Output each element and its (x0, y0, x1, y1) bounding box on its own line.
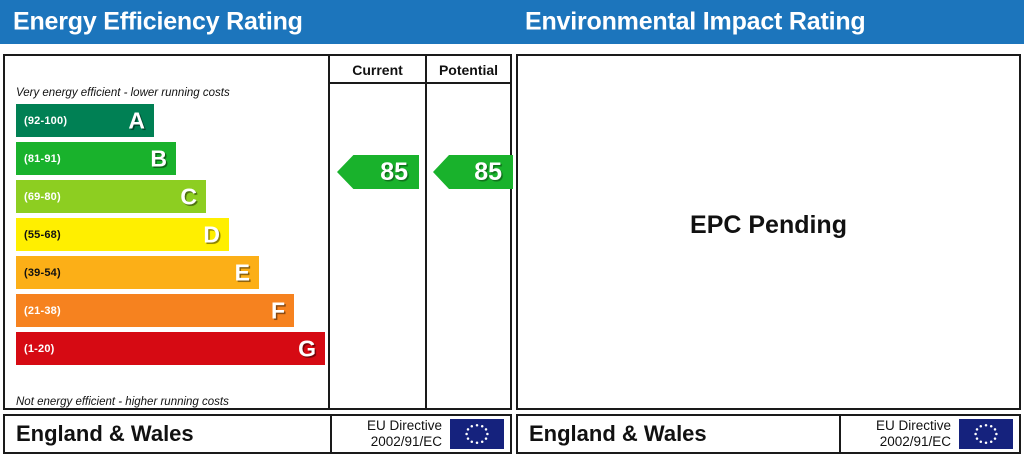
energy-efficiency-header: Energy Efficiency Rating (0, 0, 512, 44)
band-letter-a: A (128, 107, 145, 134)
epc-certificate: Energy Efficiency Rating Environmental I… (0, 0, 1024, 457)
band-row-g: (1-20) G (16, 332, 325, 365)
band-row-f: (21-38) F (16, 294, 294, 327)
epc-pending-status: EPC Pending (518, 211, 1019, 240)
eu-flag-icon-left (450, 419, 504, 449)
environmental-impact-panel: EPC Pending (516, 54, 1021, 410)
footer-divider-left (330, 416, 332, 452)
band-letter-g: G (298, 335, 316, 362)
eu-directive-right: EU Directive 2002/91/EC (876, 418, 951, 450)
footer-region-left: England & Wales (16, 421, 194, 447)
band-letter-d: D (203, 221, 220, 248)
efficiency-band-list: (92-100) A (81-91) B (69-80) C (55-68) D… (16, 104, 325, 370)
eu-flag-icon-right (959, 419, 1013, 449)
energy-footer: England & Wales EU Directive 2002/91/EC (3, 414, 512, 454)
band-letter-f: F (271, 297, 285, 324)
band-row-b: (81-91) B (16, 142, 176, 175)
energy-efficiency-title: Energy Efficiency Rating (13, 8, 303, 37)
column-divider-potential (425, 56, 427, 408)
environmental-impact-title: Environmental Impact Rating (525, 8, 866, 37)
column-header-rule (328, 82, 510, 84)
footer-divider-right (839, 416, 841, 452)
efficiency-note-bottom: Not energy efficient - higher running co… (16, 396, 229, 408)
eu-directive-left: EU Directive 2002/91/EC (367, 418, 442, 450)
environmental-impact-header: Environmental Impact Rating (512, 0, 1024, 44)
efficiency-note-top: Very energy efficient - lower running co… (16, 87, 230, 99)
band-row-c: (69-80) C (16, 180, 206, 213)
energy-efficiency-chart-panel: Current Potential Very energy efficient … (3, 54, 512, 410)
band-range-c: (69-80) (24, 191, 61, 203)
potential-rating-arrow: 85 (433, 155, 513, 189)
band-range-b: (81-91) (24, 153, 61, 165)
column-header-potential: Potential (427, 59, 510, 81)
column-divider-current (328, 56, 330, 408)
eu-directive-right-line2: 2002/91/EC (876, 434, 951, 450)
band-range-d: (55-68) (24, 229, 61, 241)
eu-directive-left-line1: EU Directive (367, 418, 442, 434)
band-row-d: (55-68) D (16, 218, 229, 251)
eu-directive-right-line1: EU Directive (876, 418, 951, 434)
band-range-g: (1-20) (24, 343, 55, 355)
band-letter-e: E (235, 259, 250, 286)
column-header-current: Current (330, 59, 425, 81)
band-row-a: (92-100) A (16, 104, 154, 137)
environmental-footer: England & Wales EU Directive 2002/91/EC (516, 414, 1021, 454)
band-letter-c: C (180, 183, 197, 210)
band-range-e: (39-54) (24, 267, 61, 279)
band-row-e: (39-54) E (16, 256, 259, 289)
eu-directive-left-line2: 2002/91/EC (367, 434, 442, 450)
band-range-f: (21-38) (24, 305, 61, 317)
band-range-a: (92-100) (24, 115, 67, 127)
current-rating-arrow: 85 (337, 155, 419, 189)
band-letter-b: B (150, 145, 167, 172)
footer-region-right: England & Wales (529, 421, 707, 447)
